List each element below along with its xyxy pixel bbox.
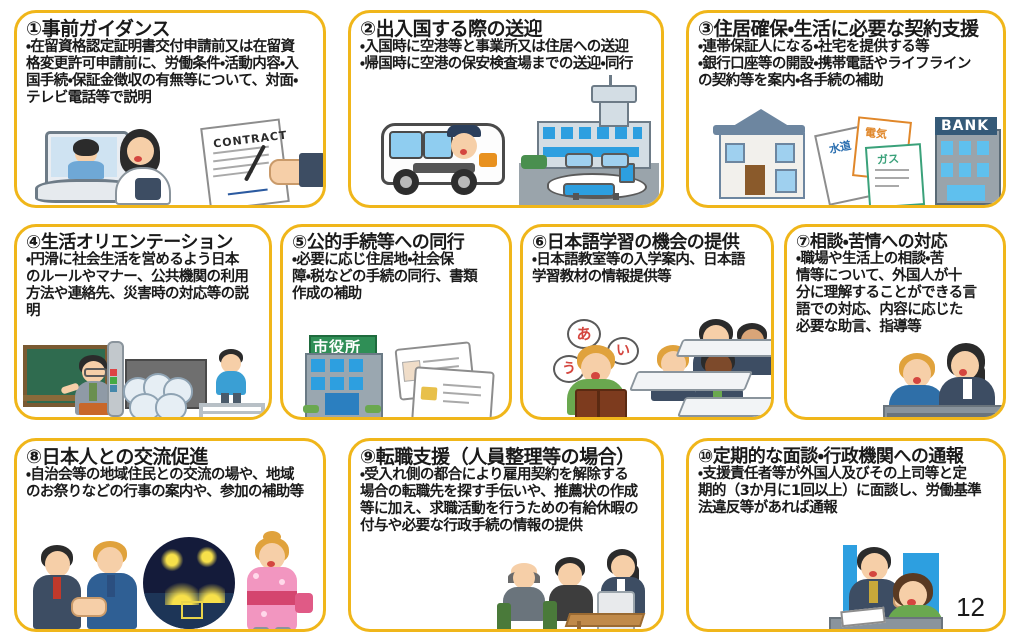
card-9-body-line-4: 付与や必要な行政手続の情報の提供 (360, 518, 652, 535)
card-8-body: ・自治会等の地域住民との交流の場や、地域 のお祭りなどの行事の案内や、参加の補助… (26, 467, 314, 501)
card-10-title: ⑩定期的な面談・行政機関への通報 (698, 448, 994, 466)
card-5-body-line-2: 障・税などの手続の同行、書類 (292, 269, 500, 286)
card-4-body: ・円滑に社会生活を営めるよう日本 のルールやマナー、公共機関の利用 方法や連絡先… (26, 252, 260, 320)
card-5-body: ・必要に応じ住居地・社会保 障・税などの手続の同行、書類 作成の補助 (292, 252, 500, 303)
card-3-body: ・連帯保証人になる・社宅を提供する等 ・銀行口座等の開設・携帯電話やライフライン… (698, 39, 994, 90)
card-1-body-line-4: テレビ電話等で説明 (26, 90, 314, 107)
card-3-body-line-3: の契約等を案内・各手続の補助 (698, 73, 994, 90)
card-10-body-line-1: ・支援責任者等が外国人及びその上司等と定 (698, 466, 994, 483)
card-3-body-line-2: ・銀行口座等の開設・携帯電話やライフライン (698, 56, 994, 73)
card-9-body-line-1: ・受入れ側の都合により雇用契約を解除する (360, 467, 652, 484)
card-10-body-line-3: 法違反等があれば通報 (698, 500, 994, 517)
card-8-body-line-2: のお祭りなどの行事の案内や、参加の補助等 (26, 484, 314, 501)
card-5-body-line-3: 作成の補助 (292, 286, 500, 303)
card-4-body-line-4: 明 (26, 303, 260, 320)
card-1-title: ①事前ガイダンス (26, 20, 314, 39)
support-card-10: ⑩定期的な面談・行政機関への通報 ・支援責任者等が外国人及びその上司等と定 期的… (686, 438, 1006, 632)
card-9-title: ⑨転職支援（人員整理等の場合） (360, 448, 652, 467)
card-2-body-line-2: ・帰国時に空港の保安検査場までの送迎・同行 (360, 56, 652, 73)
card-1-body-line-1: ・在留資格認定証明書交付申請前又は在留資 (26, 39, 314, 56)
card-7-body-line-1: ・職場や生活上の相談・苦 (796, 251, 994, 268)
card-6-body-line-1: ・日本語教室等の入学案内、日本語 (532, 252, 762, 269)
support-card-3: ③住居確保・生活に必要な契約支援 ・連帯保証人になる・社宅を提供する等 ・銀行口… (686, 10, 1006, 208)
card-3-body-line-1: ・連帯保証人になる・社宅を提供する等 (698, 39, 994, 56)
card-7-body-line-2: 情等について、外国人が十 (796, 268, 994, 285)
support-card-7: ⑦相談・苦情への対応 ・職場や生活上の相談・苦 情等について、外国人が十 分に理… (784, 224, 1006, 420)
support-card-1: ①事前ガイダンス ・在留資格認定証明書交付申請前又は在留資 格変更許可申請前に、… (14, 10, 326, 208)
card-7-body: ・職場や生活上の相談・苦 情等について、外国人が十 分に理解することができる言 … (796, 251, 994, 336)
support-card-5: ⑤公的手続等への同行 ・必要に応じ住居地・社会保 障・税などの手続の同行、書類 … (280, 224, 512, 420)
card-4-body-line-2: のルールやマナー、公共機関の利用 (26, 269, 260, 286)
card-6-body: ・日本語教室等の入学案内、日本語 学習教材の情報提供等 (532, 252, 762, 286)
support-card-9: ⑨転職支援（人員整理等の場合） ・受入れ側の都合により雇用契約を解除する 場合の… (348, 438, 664, 632)
card-10-body-line-2: 期的（3か月に1回以上）に面談し、労働基準 (698, 483, 994, 500)
support-card-4: ④生活オリエンテーション ・円滑に社会生活を営めるよう日本 のルールやマナー、公… (14, 224, 272, 420)
card-9-body-line-2: 場合の転職先を探す手伝いや、推薦状の作成 (360, 484, 652, 501)
card-2-body: ・入国時に空港等と事業所又は住居への送迎 ・帰国時に空港の保安検査場までの送迎・… (360, 39, 652, 73)
card-4-body-line-1: ・円滑に社会生活を営めるよう日本 (26, 252, 260, 269)
card-1-body-line-3: 国手続・保証金徴収の有無等について、対面・ (26, 73, 314, 90)
card-6-body-line-2: 学習教材の情報提供等 (532, 269, 762, 286)
card-10-body: ・支援責任者等が外国人及びその上司等と定 期的（3か月に1回以上）に面談し、労働… (698, 466, 994, 517)
card-5-title: ⑤公的手続等への同行 (292, 234, 500, 252)
electric-bill-label: 電気 (864, 124, 888, 142)
card-6-title: ⑥日本語学習の機会の提供 (532, 234, 762, 252)
page-number: 12 (956, 592, 985, 623)
card-8-body-line-1: ・自治会等の地域住民との交流の場や、地域 (26, 467, 314, 484)
card-7-body-line-3: 分に理解することができる言 (796, 285, 994, 302)
card-8-title: ⑧日本人との交流促進 (26, 448, 314, 467)
card-7-body-line-4: 語での対応、内容に応じた (796, 302, 994, 319)
card-5-body-line-1: ・必要に応じ住居地・社会保 (292, 252, 500, 269)
card-7-body-line-5: 必要な助言、指導等 (796, 319, 994, 336)
card-9-body-line-3: 等に加え、求職活動を行うための有給休暇の (360, 501, 652, 518)
card-7-title: ⑦相談・苦情への対応 (796, 234, 994, 251)
support-card-2: ②出入国する際の送迎 ・入国時に空港等と事業所又は住居への送迎 ・帰国時に空港の… (348, 10, 664, 208)
card-1-body-line-2: 格変更許可申請前に、労働条件・活動内容・入 (26, 56, 314, 73)
infographic-page: ①事前ガイダンス ・在留資格認定証明書交付申請前又は在留資 格変更許可申請前に、… (0, 0, 1020, 643)
gas-bill-label: ガス (876, 150, 899, 167)
card-9-body: ・受入れ側の都合により雇用契約を解除する 場合の転職先を探す手伝いや、推薦状の作… (360, 467, 652, 535)
card-1-body: ・在留資格認定証明書交付申請前又は在留資 格変更許可申請前に、労働条件・活動内容… (26, 39, 314, 107)
bank-label: BANK (941, 118, 989, 134)
support-card-6: ⑥日本語学習の機会の提供 ・日本語教室等の入学案内、日本語 学習教材の情報提供等… (520, 224, 774, 420)
card-4-title: ④生活オリエンテーション (26, 234, 260, 252)
support-card-8: ⑧日本人との交流促進 ・自治会等の地域住民との交流の場や、地域 のお祭りなどの行… (14, 438, 326, 632)
card-2-body-line-1: ・入国時に空港等と事業所又は住居への送迎 (360, 39, 652, 56)
card-3-title: ③住居確保・生活に必要な契約支援 (698, 20, 994, 39)
card-2-title: ②出入国する際の送迎 (360, 20, 652, 39)
card-4-body-line-3: 方法や連絡先、災害時の対応等の説 (26, 286, 260, 303)
